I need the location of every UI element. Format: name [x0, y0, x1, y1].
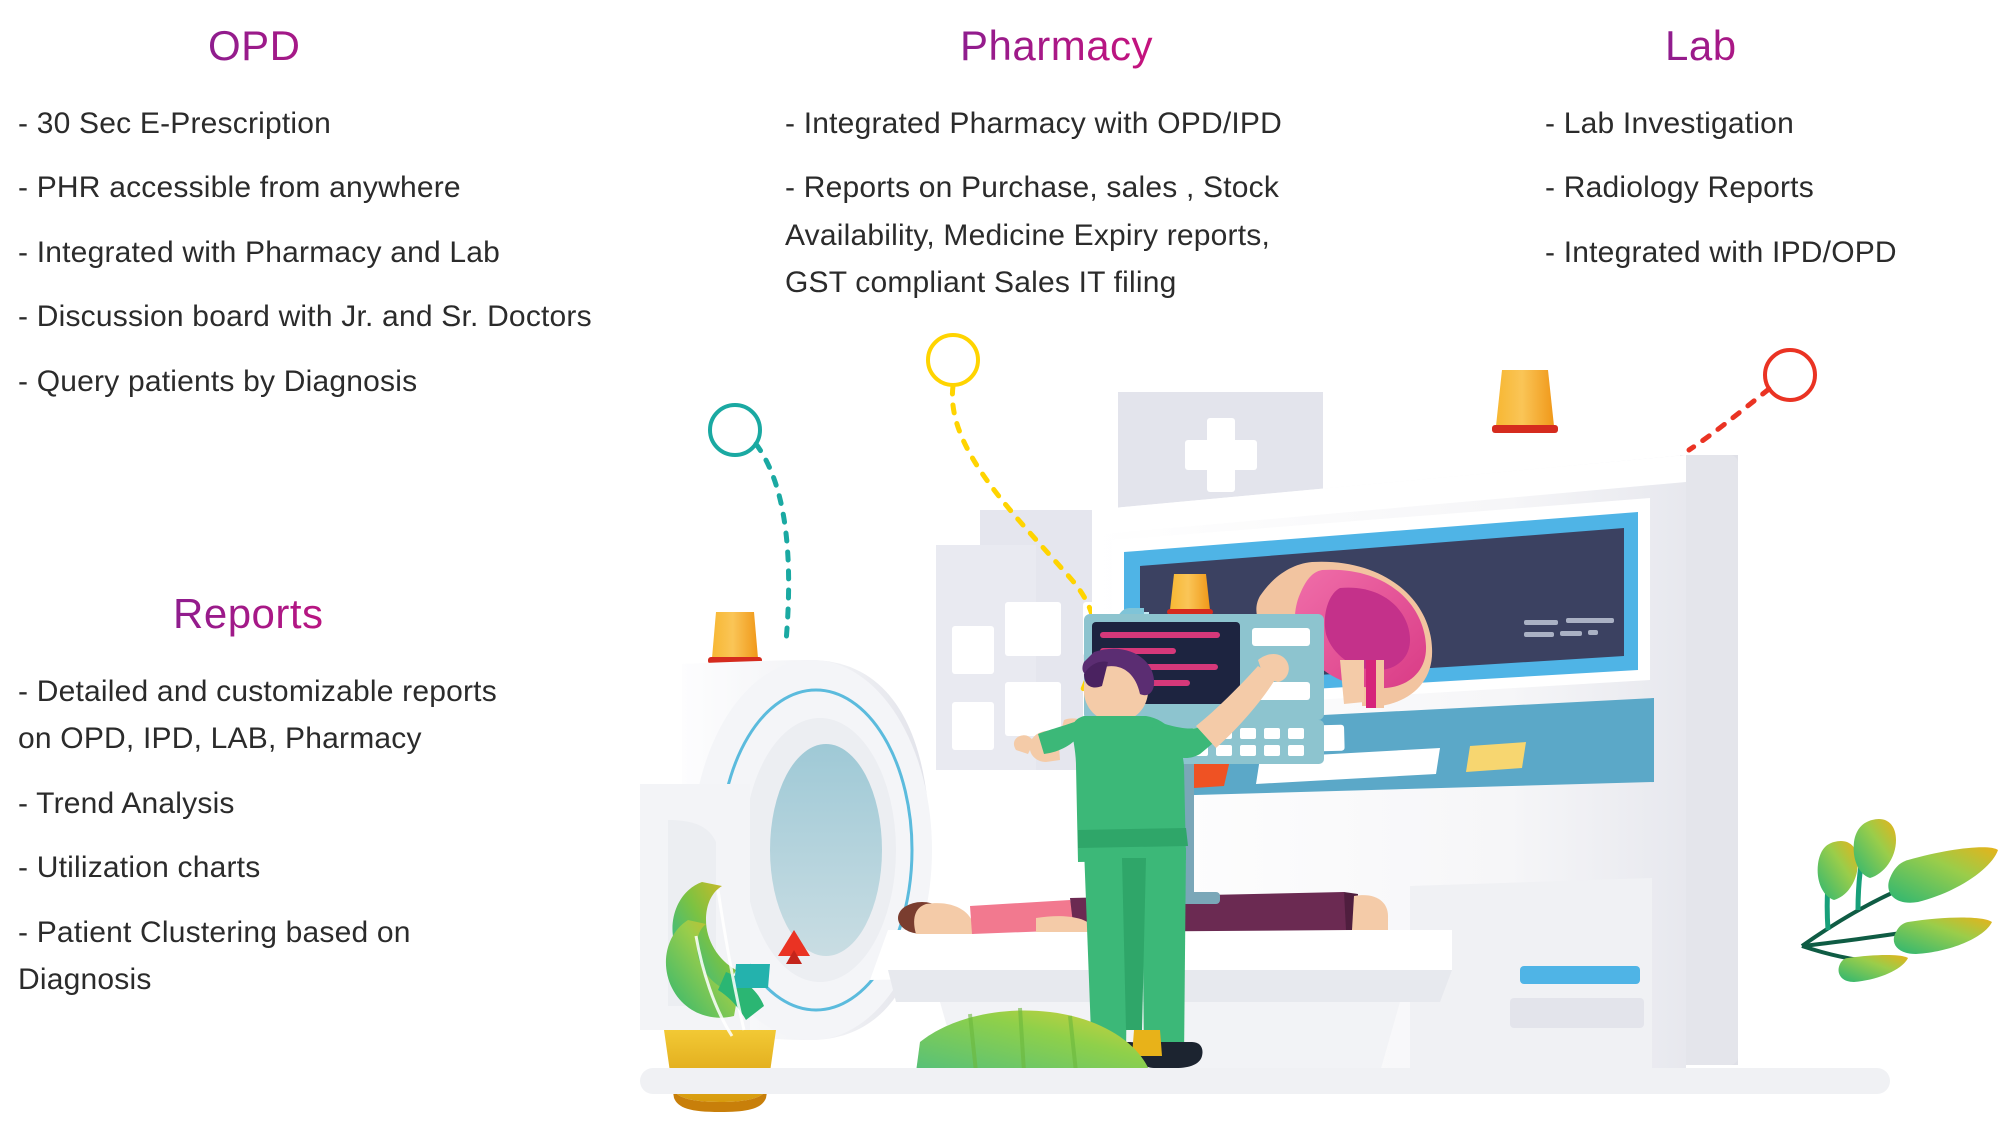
feature-list-reports: - Detailed and customizable reports on O…: [18, 668, 638, 1003]
warning-beacon: [1492, 370, 1558, 433]
list-item: - Integrated Pharmacy with OPD/IPD: [785, 100, 1425, 147]
feature-block-lab: Lab - Lab Investigation - Radiology Repo…: [1545, 22, 1985, 293]
list-item: - Radiology Reports: [1545, 164, 1985, 211]
list-item: - Reports on Purchase, sales , Stock Ava…: [785, 164, 1425, 306]
list-item: - Integrated with Pharmacy and Lab: [18, 229, 708, 276]
section-heading-reports: Reports: [173, 590, 638, 638]
feature-block-reports: Reports - Detailed and customizable repo…: [18, 590, 638, 1020]
slide-canvas: OPD - 30 Sec E-Prescription - PHR access…: [0, 0, 1999, 1125]
feature-block-opd: OPD - 30 Sec E-Prescription - PHR access…: [18, 22, 708, 422]
section-heading-lab: Lab: [1665, 22, 1985, 70]
list-item: - Query patients by Diagnosis: [18, 358, 708, 405]
mri-radiology-illustration: [640, 330, 1999, 1125]
list-item: - Integrated with IPD/OPD: [1545, 229, 1985, 276]
feature-list-opd: - 30 Sec E-Prescription - PHR accessible…: [18, 100, 708, 405]
list-item: - Lab Investigation: [1545, 100, 1985, 147]
right-branch: [1802, 819, 1998, 982]
list-item: - Patient Clustering based on Diagnosis: [18, 909, 638, 1004]
list-item: - PHR accessible from anywhere: [18, 164, 708, 211]
section-heading-pharmacy: Pharmacy: [960, 22, 1425, 70]
teal-marker-circle: [710, 405, 789, 642]
red-marker-circle: [1689, 350, 1815, 450]
feature-list-pharmacy: - Integrated Pharmacy with OPD/IPD - Rep…: [785, 100, 1425, 307]
feature-list-lab: - Lab Investigation - Radiology Reports …: [1545, 100, 1985, 276]
list-item: - 30 Sec E-Prescription: [18, 100, 708, 147]
ground-bar: [640, 1068, 1890, 1094]
list-item: - Detailed and customizable reports on O…: [18, 668, 638, 763]
section-heading-opd: OPD: [208, 22, 708, 70]
list-item: - Trend Analysis: [18, 780, 638, 827]
warning-beacon-scanner: [708, 612, 762, 664]
list-item: - Discussion board with Jr. and Sr. Doct…: [18, 293, 708, 340]
feature-block-pharmacy: Pharmacy - Integrated Pharmacy with OPD/…: [785, 22, 1425, 324]
list-item: - Utilization charts: [18, 844, 638, 891]
